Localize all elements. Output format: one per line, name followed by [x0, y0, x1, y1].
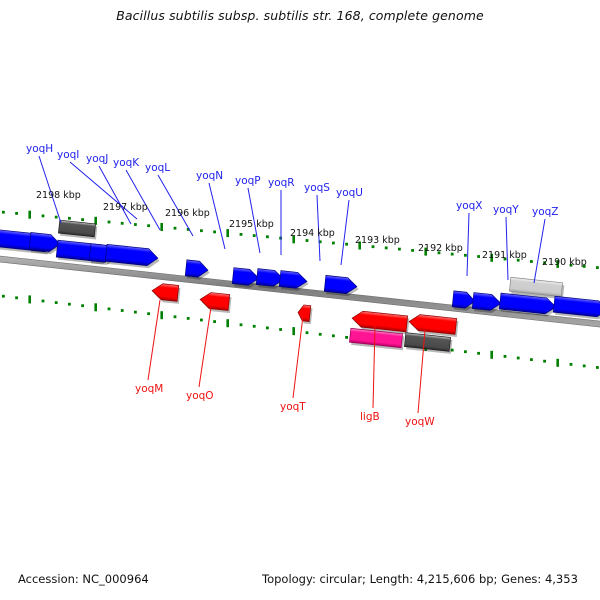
ruler-tick-label: 2191 kbp	[482, 250, 527, 261]
gene-label-yoqK[interactable]: yoqK	[113, 157, 140, 169]
strand-tick-minor	[200, 319, 203, 322]
gene-label-yoqW[interactable]: yoqW	[405, 416, 435, 428]
strand-tick-minor	[385, 247, 388, 250]
gene-feature-pseudo-none[interactable]	[58, 220, 97, 239]
strand-tick-minor	[530, 260, 533, 263]
strand-tick-minor	[213, 320, 216, 323]
gene-label-yoqH[interactable]: yoqH	[26, 143, 53, 155]
leader-line-yoqX	[467, 213, 469, 276]
gene-label-yoqU[interactable]: yoqU	[336, 187, 363, 199]
gene-label-ligB[interactable]: ligB	[360, 411, 380, 423]
strand-tick-minor	[68, 303, 71, 306]
strand-tick-minor	[134, 311, 137, 314]
gene-feature-cds-forward[interactable]	[105, 244, 161, 269]
strand-tick-minor	[81, 218, 84, 221]
gene-feature-cds-reverse[interactable]	[199, 292, 232, 314]
ruler-tick-label: 2198 kbp	[36, 190, 81, 201]
strand-tick-minor	[345, 243, 348, 246]
strand-tick-minor	[147, 224, 150, 227]
strand-tick-minor	[596, 366, 599, 369]
strand-tick-minor	[55, 301, 58, 304]
strand-tick-minor	[504, 355, 507, 358]
genome-summary-text: Topology: circular; Length: 4,215,606 bp…	[262, 572, 578, 586]
strand-tick-minor	[332, 334, 335, 337]
strand-tick-minor	[332, 242, 335, 245]
accession-text: Accession: NC_000964	[18, 572, 149, 586]
strand-tick-minor	[517, 357, 520, 360]
gene-label-yoqX[interactable]: yoqX	[456, 200, 483, 212]
gene-label-yoqS[interactable]: yoqS	[304, 182, 330, 194]
strand-tick-minor	[187, 317, 190, 320]
ruler-tick-label: 2193 kbp	[355, 235, 400, 246]
gene-label-yoqR[interactable]: yoqR	[268, 177, 295, 189]
gene-feature-body[interactable]	[151, 283, 179, 302]
strand-tick-minor	[15, 212, 18, 215]
leader-line-yoqN	[209, 183, 225, 249]
strand-tick-minor	[253, 234, 256, 237]
leader-line-yoqU	[341, 200, 349, 265]
strand-tick-minor	[530, 358, 533, 361]
strand-tick-minor	[583, 365, 586, 368]
gene-feature-cds-reverse[interactable]	[151, 283, 181, 304]
strand-tick-major	[160, 311, 163, 319]
strand-tick-minor	[200, 229, 203, 232]
strand-tick-minor	[477, 352, 480, 355]
strand-tick-major	[226, 229, 229, 237]
strand-tick-minor	[464, 350, 467, 353]
genome-map-canvas: 2198 kbp2197 kbp2196 kbp2195 kbp2194 kbp…	[0, 0, 600, 600]
gene-label-yoqJ[interactable]: yoqJ	[86, 153, 108, 165]
ruler-tick-label: 2190 kbp	[542, 257, 587, 268]
strand-tick-major	[226, 319, 229, 327]
ruler-tick-label: 2192 kbp	[418, 243, 463, 254]
leader-line-yoqY	[506, 217, 508, 280]
strand-tick-minor	[240, 233, 243, 236]
strand-tick-minor	[2, 211, 5, 214]
strand-tick-minor	[15, 296, 18, 299]
gene-feature-body[interactable]	[408, 314, 456, 335]
strand-tick-minor	[68, 217, 71, 220]
strand-tick-major	[94, 303, 97, 311]
strand-tick-minor	[147, 312, 150, 315]
gene-label-yoqT[interactable]: yoqT	[280, 401, 306, 413]
gene-feature-cds-forward[interactable]	[279, 271, 310, 292]
strand-tick-minor	[398, 248, 401, 251]
gene-label-yoqM[interactable]: yoqM	[135, 383, 163, 395]
gene-label-yoqI[interactable]: yoqI	[57, 149, 79, 161]
strand-tick-minor	[174, 227, 177, 230]
strand-tick-minor	[306, 331, 309, 334]
leader-line-yoqM	[148, 300, 160, 380]
strand-tick-minor	[319, 333, 322, 336]
strand-tick-major	[556, 359, 559, 367]
gene-feature-pseudo-none[interactable]	[404, 333, 452, 354]
strand-tick-minor	[306, 239, 309, 242]
gene-label-yoqP[interactable]: yoqP	[235, 175, 261, 187]
gene-label-yoqY[interactable]: yoqY	[493, 204, 519, 216]
gene-label-yoqN[interactable]: yoqN	[196, 170, 223, 182]
strand-tick-minor	[266, 327, 269, 330]
strand-tick-minor	[121, 222, 124, 225]
strand-tick-minor	[543, 360, 546, 363]
strand-tick-major	[292, 327, 295, 335]
strand-tick-minor	[174, 315, 177, 318]
strand-tick-minor	[121, 309, 124, 312]
gene-feature-layer[interactable]	[0, 220, 600, 354]
ruler-tick-label: 2194 kbp	[290, 228, 335, 239]
gene-feature-cds-reverse[interactable]	[297, 304, 313, 324]
reverse-gene-labels[interactable]: yoqMyoqOyoqTligByoqW	[135, 383, 435, 428]
strand-tick-minor	[213, 231, 216, 234]
gene-feature-body[interactable]	[199, 292, 230, 311]
strand-tick-minor	[240, 323, 243, 326]
strand-tick-minor	[279, 328, 282, 331]
strand-tick-minor	[42, 215, 45, 218]
gene-label-yoqO[interactable]: yoqO	[186, 390, 214, 402]
strand-tick-minor	[2, 295, 5, 298]
strand-tick-minor	[55, 216, 58, 219]
strand-tick-minor	[570, 363, 573, 366]
strand-tick-minor	[266, 235, 269, 238]
gene-feature-body[interactable]	[351, 310, 407, 332]
strand-tick-minor	[42, 300, 45, 303]
leader-line-yoqZ	[534, 219, 545, 283]
strand-tick-minor	[477, 255, 480, 258]
strand-tick-major	[28, 211, 31, 219]
strand-tick-minor	[253, 325, 256, 328]
leader-line-yoqJ	[99, 166, 131, 224]
strand-tick-major	[490, 351, 493, 359]
strand-tick-major	[160, 223, 163, 231]
ruler-tick-label: 2197 kbp	[103, 202, 148, 213]
strand-tick-minor	[108, 221, 111, 224]
gene-label-yoqL[interactable]: yoqL	[145, 162, 170, 174]
strand-tick-minor	[464, 254, 467, 257]
strand-tick-minor	[411, 249, 414, 252]
leader-line-yoqK	[126, 170, 160, 230]
strand-tick-minor	[81, 304, 84, 307]
gene-feature-cds-forward[interactable]	[324, 275, 360, 297]
strand-tick-minor	[108, 308, 111, 311]
strand-tick-minor	[596, 266, 599, 269]
genome-graphic-view: Bacillus subtilis subsp. subtilis str. 1…	[0, 0, 600, 600]
strand-tick-minor	[345, 336, 348, 339]
gene-label-yoqZ[interactable]: yoqZ	[532, 206, 559, 218]
ruler-tick-label: 2195 kbp	[229, 219, 274, 230]
gene-feature-body[interactable]	[297, 304, 311, 321]
strand-tick-minor	[134, 223, 137, 226]
ruler-tick-label: 2196 kbp	[165, 208, 210, 219]
strand-tick-major	[28, 295, 31, 303]
gene-feature-cds-forward[interactable]	[185, 260, 211, 281]
